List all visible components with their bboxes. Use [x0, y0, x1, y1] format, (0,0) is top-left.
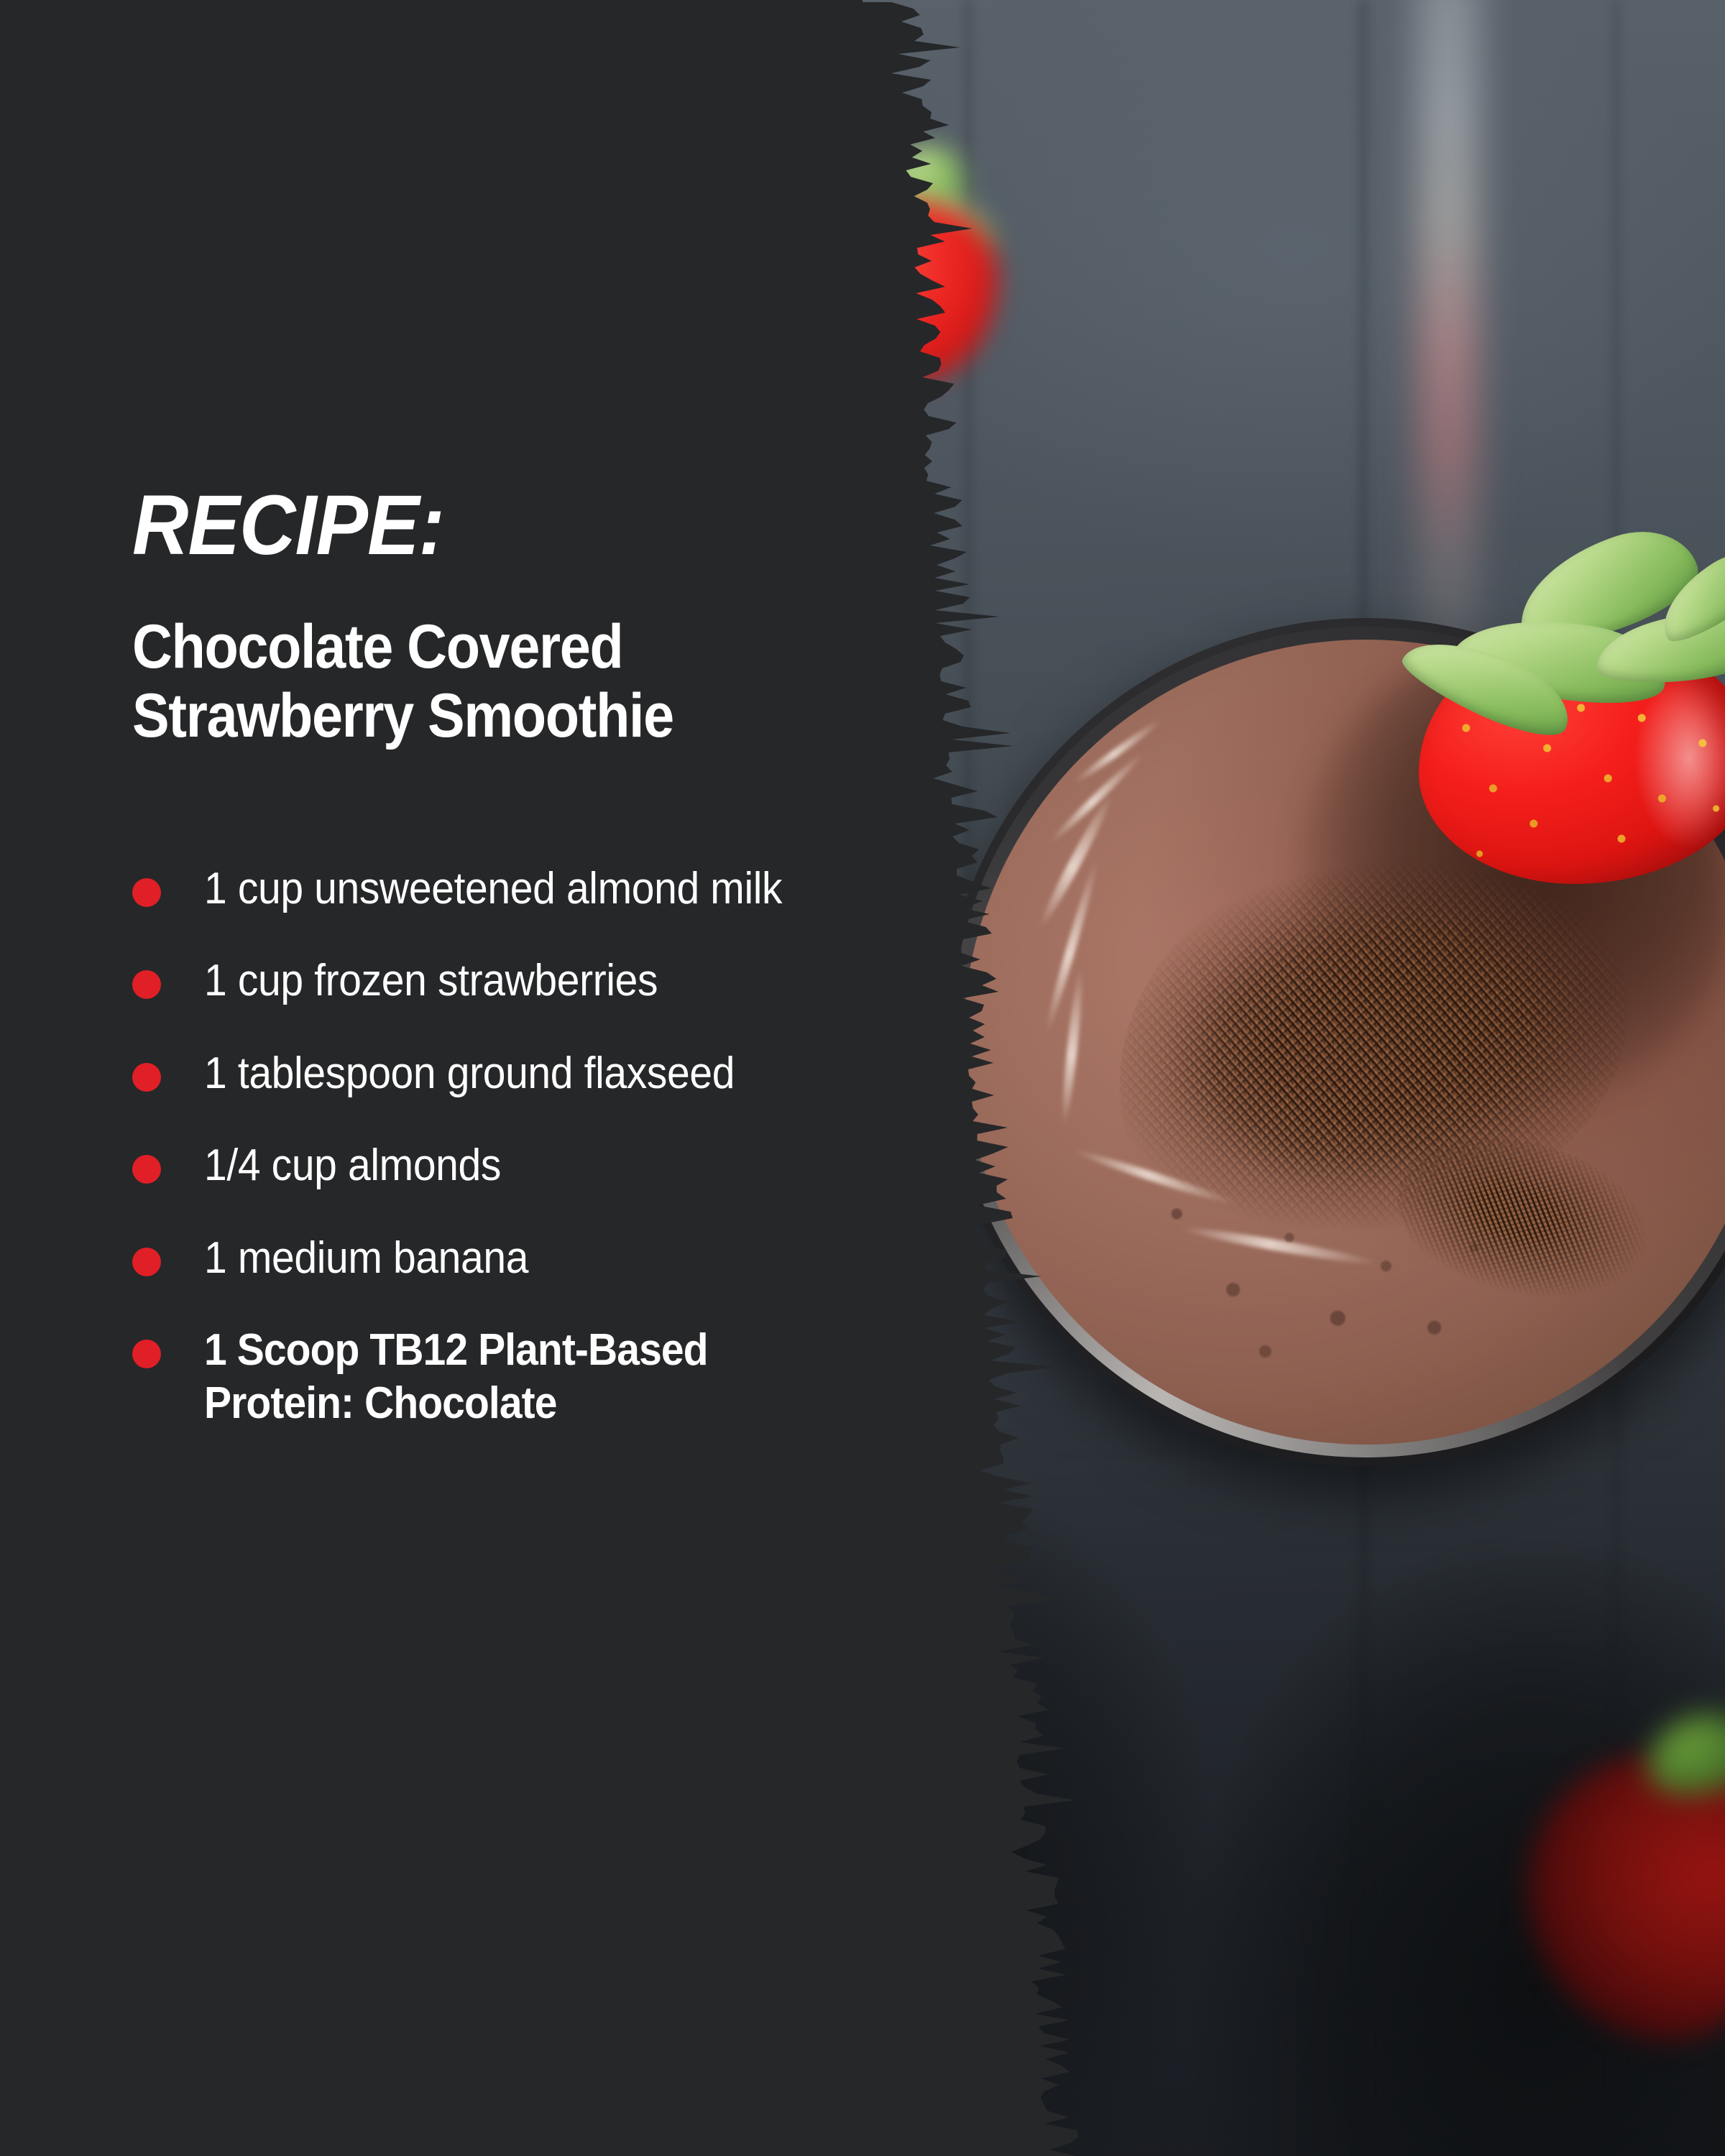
kicker-label: RECIPE:: [132, 483, 444, 568]
ingredient-label: 1 medium banana: [204, 1232, 806, 1285]
ingredient-label: 1/4 cup almonds: [204, 1139, 806, 1192]
bullet-icon: [132, 1063, 161, 1092]
bullet-icon: [132, 970, 161, 999]
ingredient-item: 1 cup unsweetened almond milk: [132, 862, 858, 916]
ingredient-list: 1 cup unsweetened almond milk1 cup froze…: [132, 862, 858, 1470]
page-title: Chocolate Covered Strawberry Smoothie: [132, 612, 786, 751]
ingredient-item: 1 cup frozen strawberries: [132, 954, 858, 1008]
strawberry-body: [1528, 1754, 1725, 2041]
bullet-icon: [132, 1248, 161, 1276]
strawberry-on-rim: [1366, 546, 1725, 920]
bullet-icon: [132, 1340, 161, 1368]
strawberry-calyx: [1366, 546, 1725, 920]
bullet-icon: [132, 1155, 161, 1184]
strawberry-body: [862, 201, 998, 381]
ingredient-item: 1 medium banana: [132, 1232, 858, 1285]
blurred-strawberry-top: [862, 93, 1048, 381]
recipe-photo: [862, 0, 1725, 2156]
cream-swirl: [1059, 968, 1086, 1126]
ingredient-label: 1 cup unsweetened almond milk: [204, 862, 806, 916]
blurred-strawberry-bottom: [1485, 1710, 1725, 2048]
ingredient-label: 1 tablespoon ground flaxseed: [204, 1047, 806, 1100]
ingredient-label: 1 Scoop TB12 Plant-Based Protein: Chocol…: [204, 1324, 806, 1431]
ingredient-item: 1 tablespoon ground flaxseed: [132, 1047, 858, 1100]
title-line-2: Strawberry Smoothie: [132, 681, 786, 750]
title-line-1: Chocolate Covered: [132, 612, 786, 681]
recipe-poster: RECIPE: Chocolate Covered Strawberry Smo…: [0, 0, 1725, 2156]
ingredient-item: 1/4 cup almonds: [132, 1139, 858, 1192]
ingredient-label: 1 cup frozen strawberries: [204, 954, 806, 1008]
bullet-icon: [132, 878, 161, 907]
ingredient-item: 1 Scoop TB12 Plant-Based Protein: Chocol…: [132, 1324, 858, 1431]
text-panel: RECIPE: Chocolate Covered Strawberry Smo…: [0, 0, 862, 2156]
